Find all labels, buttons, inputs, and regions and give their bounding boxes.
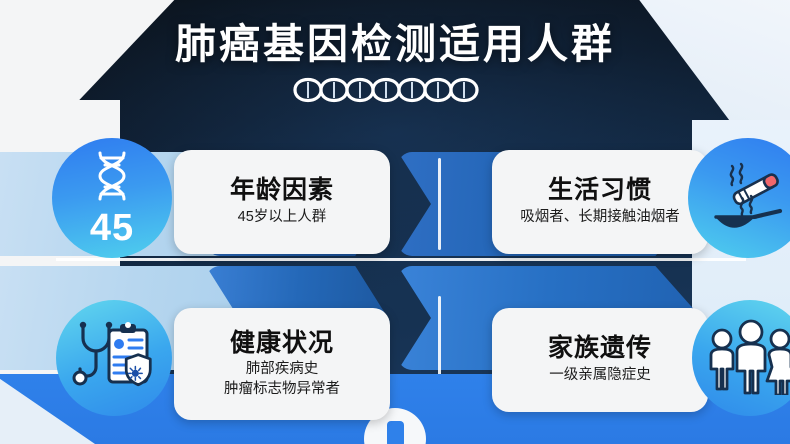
card-subtitle-age-factor: 45岁以上人群 — [238, 208, 327, 228]
card-subtitle-line: 45岁以上人群 — [238, 208, 327, 228]
infographic-poster: 肺癌基因检测适用人群 — [0, 0, 790, 444]
card-subtitle-line: 一级亲属隐症史 — [549, 366, 651, 386]
icon-circle-health-status — [56, 300, 172, 416]
age-threshold-badge: 45 — [90, 209, 134, 247]
icon-circle-family-heredity — [692, 300, 790, 416]
card-age-factor[interactable]: 年龄因素 45岁以上人群 — [174, 150, 390, 254]
dna-helix-divider-icon — [0, 73, 790, 107]
card-subtitle-health-status: 肺部疾病史 肿瘤标志物异常者 — [224, 360, 340, 399]
page-title: 肺癌基因检测适用人群 — [0, 22, 790, 67]
card-health-status[interactable]: 健康状况 肺部疾病史 肿瘤标志物异常者 — [174, 308, 390, 420]
family-group-icon — [704, 317, 790, 400]
card-subtitle-family-heredity: 一级亲属隐症史 — [549, 366, 651, 386]
card-subtitle-line: 吸烟者、长期接触油烟者 — [520, 208, 680, 228]
card-subtitle-line: 肺部疾病史 — [224, 360, 340, 380]
card-title-family-heredity: 家族遗传 — [548, 334, 652, 363]
card-lifestyle-habits[interactable]: 生活习惯 吸烟者、长期接触油烟者 — [492, 150, 708, 254]
card-subtitle-line: 肿瘤标志物异常者 — [224, 380, 340, 400]
card-family-heredity[interactable]: 家族遗传 一级亲属隐症史 — [492, 308, 708, 412]
row-separator — [56, 258, 746, 261]
icon-circle-age-factor: 45 — [52, 138, 172, 258]
center-stem-top — [438, 158, 441, 250]
card-title-lifestyle-habits: 生活习惯 — [548, 176, 652, 205]
card-title-health-status: 健康状况 — [230, 329, 334, 358]
cigarette-and-wok-icon — [706, 154, 790, 243]
poster-header: 肺癌基因检测适用人群 — [0, 22, 790, 107]
card-title-age-factor: 年龄因素 — [230, 176, 334, 205]
dna-helix-icon — [91, 150, 133, 207]
stethoscope-clipboard-shield-icon — [72, 316, 156, 401]
card-subtitle-lifestyle-habits: 吸烟者、长期接触油烟者 — [520, 208, 680, 228]
